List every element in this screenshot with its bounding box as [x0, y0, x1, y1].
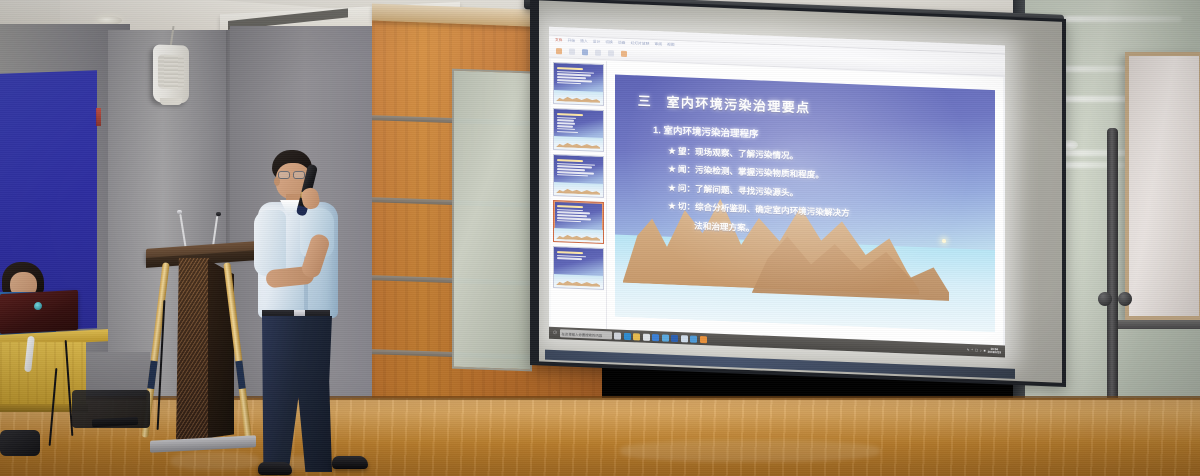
glass-wall-panel	[452, 69, 532, 372]
podium-microphone-icon	[216, 212, 221, 216]
slide-thumbnail[interactable]	[553, 62, 604, 106]
wall-fixture	[96, 108, 101, 126]
presenter	[244, 150, 366, 470]
tab-design[interactable]: 设计	[593, 40, 601, 45]
slide-thumbnail-rail[interactable]	[551, 59, 607, 329]
star-icon: ★	[668, 146, 676, 156]
slide-bullet-continuation: 法和治理方案。	[694, 220, 980, 244]
current-slide: 三 室内环境污染治理要点 1. 室内环境污染治理程序 ★望：现场观察、了解污染情…	[615, 75, 995, 332]
speaker-mount	[160, 98, 182, 105]
tab-file[interactable]: 文件	[555, 38, 563, 43]
thumbnail-text-lines	[557, 251, 599, 262]
podium-front-panel	[176, 258, 212, 442]
thumbnail-dune-art	[554, 90, 603, 105]
slide-bullet-text: 切：综合分析鉴别、确定室内环境污染解决方	[678, 202, 850, 219]
battery-icon[interactable]: ■	[984, 349, 986, 353]
file-explorer-icon[interactable]	[633, 333, 640, 340]
presenter-left-sleeve	[254, 210, 286, 276]
laptop-logo-icon	[34, 302, 42, 310]
ribbon-align-icon[interactable]	[595, 50, 601, 56]
volume-icon[interactable]: ♪	[980, 348, 982, 352]
whiteboard	[1125, 52, 1200, 320]
wechat-icon[interactable]	[690, 335, 697, 342]
thumbnail-text-lines	[557, 67, 599, 87]
thumbnail-dune-art	[554, 274, 603, 289]
ribbon-styles-icon[interactable]	[621, 51, 627, 57]
floor-reflection	[620, 440, 880, 462]
thumbnail-dune-art	[554, 136, 603, 151]
slide-edit-canvas[interactable]: 三 室内环境污染治理要点 1. 室内环境污染治理程序 ★望：现场观察、了解污染情…	[607, 61, 1003, 345]
star-icon: ★	[668, 183, 676, 193]
thumbnail-dune-art	[554, 228, 603, 243]
powerpoint-icon[interactable]	[681, 335, 688, 342]
speaker-grill-icon	[158, 55, 184, 90]
clock-date: 2019/6/19	[988, 351, 1001, 355]
ribbon-paste-icon[interactable]	[556, 48, 562, 54]
thumbnail-text-lines	[557, 205, 599, 225]
task-view-icon[interactable]	[614, 332, 621, 339]
whiteboard-knob[interactable]	[1098, 292, 1112, 306]
taskbar-search-input[interactable]: 在这里输入你要搜索的内容	[560, 329, 612, 339]
ribbon-arrange-icon[interactable]	[608, 50, 614, 56]
tab-review[interactable]: 审阅	[655, 42, 663, 47]
store-icon[interactable]	[643, 333, 650, 340]
slide-bullet-text: 闻：污染检测、掌握污染物质和程度。	[678, 165, 824, 181]
tab-home[interactable]: 开始	[568, 39, 576, 44]
notes-icon[interactable]	[700, 335, 707, 342]
star-icon: ★	[668, 201, 676, 211]
network-icon[interactable]: ☐	[975, 348, 978, 352]
thumbnail-dune-art	[554, 182, 603, 197]
thumbnail-text-lines	[557, 159, 599, 179]
wall-speaker	[153, 44, 189, 103]
edge-icon[interactable]	[624, 332, 631, 339]
tab-view[interactable]: 视图	[667, 43, 675, 48]
ribbon-font-icon[interactable]	[569, 49, 575, 55]
tab-transitions[interactable]: 切换	[605, 40, 613, 45]
projection-screen-surface: 文件 开始 插入 设计 切换 动画 幻灯片放映 审阅 视图	[539, 0, 1062, 382]
projected-desktop: 文件 开始 插入 设计 切换 动画 幻灯片放映 审阅 视图	[549, 27, 1005, 358]
whiteboard-knob[interactable]	[1118, 292, 1132, 306]
lecture-hall-photo: 文件 开始 插入 设计 切换 动画 幻灯片放映 审阅 视图	[0, 0, 1200, 476]
presenter-shoe	[332, 456, 368, 469]
slide-thumbnail[interactable]	[553, 108, 604, 152]
slide-title: 三 室内环境污染治理要点	[638, 90, 811, 116]
slide-thumbnail[interactable]	[553, 154, 604, 198]
thumbnail-text-lines	[557, 113, 599, 136]
projection-screen: 文件 开始 插入 设计 切换 动画 幻灯片放映 审阅 视图	[530, 0, 1066, 387]
tab-slideshow[interactable]: 幻灯片放映	[631, 41, 650, 47]
windows-start-icon[interactable]: ⚆	[553, 330, 557, 336]
presenter-shoe	[258, 462, 292, 475]
podium-microphone-icon	[177, 210, 182, 214]
ime-icon[interactable]: ✎	[967, 348, 970, 352]
taskbar-clock[interactable]: 10:56 2019/6/19	[988, 348, 1001, 355]
chevron-up-icon[interactable]: ^	[971, 348, 973, 352]
word-icon[interactable]	[671, 334, 678, 341]
presenter-trousers	[262, 316, 332, 472]
laptop	[0, 290, 78, 334]
chrome-icon[interactable]	[662, 334, 669, 341]
slide-subtitle: 1. 室内环境污染治理程序	[653, 122, 759, 140]
slide-bullet-list: ★望：现场观察、了解污染情况。 ★闻：污染检测、掌握污染物质和程度。 ★问：了解…	[668, 145, 980, 250]
taskbar-tray[interactable]: ✎ ^ ☐ ♪ ■ 10:56 2019/6/19	[967, 347, 1001, 355]
tab-insert[interactable]: 插入	[580, 39, 588, 44]
slide-thumbnail-selected[interactable]	[553, 200, 604, 244]
star-icon: ★	[668, 164, 676, 174]
slide-thumbnail[interactable]	[553, 246, 604, 290]
equipment-bag	[0, 430, 40, 456]
slide-bullet-text: 望：现场观察、了解污染情况。	[678, 146, 798, 161]
ribbon-shape-icon[interactable]	[582, 49, 588, 55]
slide-bullet-text: 问：了解问题、寻找污染源头。	[678, 183, 798, 198]
mail-icon[interactable]	[652, 334, 659, 341]
whiteboard-tray	[1118, 320, 1200, 329]
tab-animations[interactable]: 动画	[618, 41, 626, 46]
